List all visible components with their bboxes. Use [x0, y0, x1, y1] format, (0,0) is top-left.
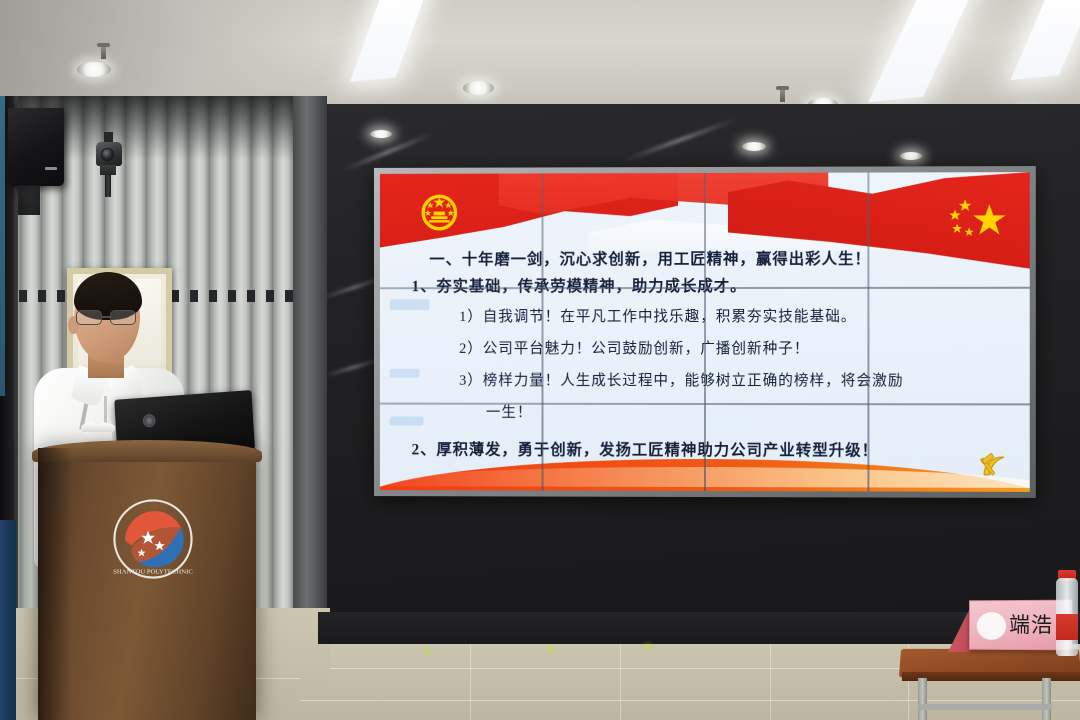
left-teal-edge	[0, 96, 5, 396]
wall-corner-column	[293, 96, 327, 656]
wall-downlight	[370, 130, 392, 138]
wall-speaker	[8, 108, 64, 186]
chinese-flag-stars-icon	[943, 194, 1016, 240]
speaker-bracket	[18, 185, 40, 215]
wall-downlight	[900, 152, 922, 160]
left-blue-panel	[0, 520, 16, 720]
ceiling-led-strip	[868, 0, 984, 102]
nameplate-name-text: 端浩	[1009, 609, 1053, 639]
conference-room-scene: 一、十年磨一剑，沉心求创新，用工匠精神，赢得出彩人生！ 1、夯实基础，传承劳模精…	[0, 0, 1080, 720]
nameplate-emblem-oval	[977, 612, 1006, 640]
lectern-shadow	[38, 448, 72, 720]
glasses-bridge	[102, 316, 110, 318]
side-table-edge	[902, 672, 1080, 681]
hammer-and-sickle-emblem-icon	[977, 450, 1011, 484]
ceiling-led-strip	[350, 0, 430, 82]
slide-line-sub1: 1、夯实基础，传承劳模精神，助力成长成才。	[412, 274, 1008, 296]
glasses-lens-right	[110, 310, 136, 325]
video-wall-bezel: 一、十年磨一剑，沉心求创新，用工匠精神，赢得出彩人生！ 1、夯实基础，传承劳模精…	[374, 166, 1036, 498]
side-table-leg	[918, 678, 927, 720]
laser-pointer-dot	[425, 650, 430, 653]
wall-downlight	[742, 142, 766, 151]
sprinkler-head	[101, 46, 106, 59]
floor-tile-line	[620, 644, 621, 720]
water-bottle-label	[1056, 614, 1078, 640]
floor-tile-line	[300, 700, 1080, 701]
ceiling-downlight	[77, 62, 111, 77]
floor-tile-line	[470, 644, 471, 720]
video-wall-screen[interactable]: 一、十年磨一剑，沉心求创新，用工匠精神，赢得出彩人生！ 1、夯实基础，传承劳模精…	[380, 172, 1030, 492]
sprinkler-head	[780, 89, 785, 102]
speaker-brand-label	[45, 167, 57, 170]
panel-seam-vertical	[542, 173, 544, 490]
ceiling-led-strip	[1011, 0, 1080, 80]
ptz-camera	[96, 142, 122, 166]
ceiling-downlight	[463, 81, 494, 95]
camera-pole	[105, 175, 111, 197]
floor-tile-line	[770, 644, 771, 720]
national-emblem-of-china-icon	[416, 188, 464, 236]
shantou-polytechnic-logo-icon: SHANTOU POLYTECHNIC	[112, 498, 194, 580]
marble-vein	[623, 118, 737, 163]
glasses-lens-left	[76, 310, 102, 325]
side-table-rail	[918, 704, 1052, 710]
marble-vein	[343, 132, 434, 172]
panel-seam-vertical	[867, 173, 869, 492]
logo-english-text: SHANTOU POLYTECHNIC	[113, 568, 193, 575]
marble-vein	[325, 358, 382, 377]
presenter-glasses	[74, 310, 142, 326]
laser-pointer-dot	[645, 645, 650, 648]
panel-seam-vertical	[704, 173, 706, 491]
camera-mount	[100, 165, 116, 175]
laser-pointer-dot	[548, 648, 553, 651]
laptop-logo-icon	[143, 414, 156, 428]
slide-line-heading: 一、十年磨一剑，沉心求创新，用工匠精神，赢得出彩人生！	[429, 247, 1007, 270]
camera-lens-icon	[101, 148, 114, 161]
tea-cup-knob	[93, 417, 102, 424]
side-table-leg	[1042, 678, 1051, 720]
